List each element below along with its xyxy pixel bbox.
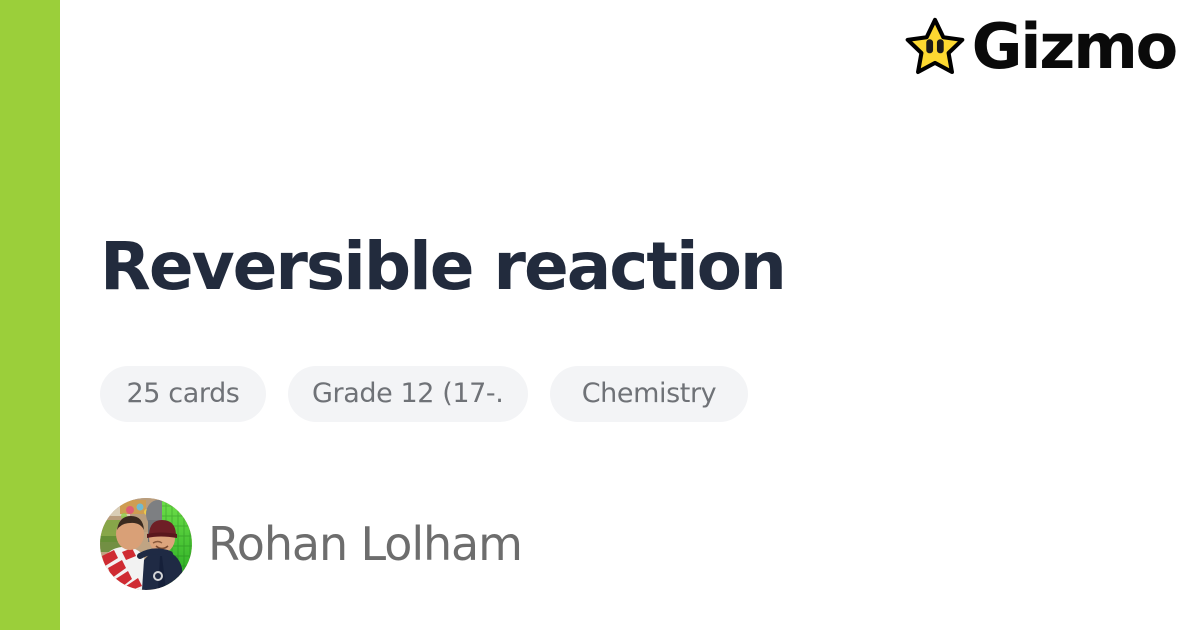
badge-subject-label: Chemistry [582,379,717,409]
badge-card-count: 25 cards [100,366,266,422]
author-name: Rohan Lolham [208,518,522,570]
badge-grade-level-label: Grade 12 (17-.. [312,379,504,409]
meta-pill-group: 25 cards Grade 12 (17-.. Chemistry [100,366,748,422]
content-column: Reversible reaction 25 cards Grade 12 (1… [100,0,1140,630]
author-row: Rohan Lolham [100,498,522,590]
page-title: Reversible reaction [100,228,785,306]
share-card: Gizmo Reversible reaction 25 cards Grade… [0,0,1200,630]
avatar [100,498,192,590]
badge-subject: Chemistry [550,366,748,422]
badge-grade-level: Grade 12 (17-.. [288,366,528,422]
badge-card-count-label: 25 cards [127,379,240,409]
accent-stripe [0,0,60,630]
